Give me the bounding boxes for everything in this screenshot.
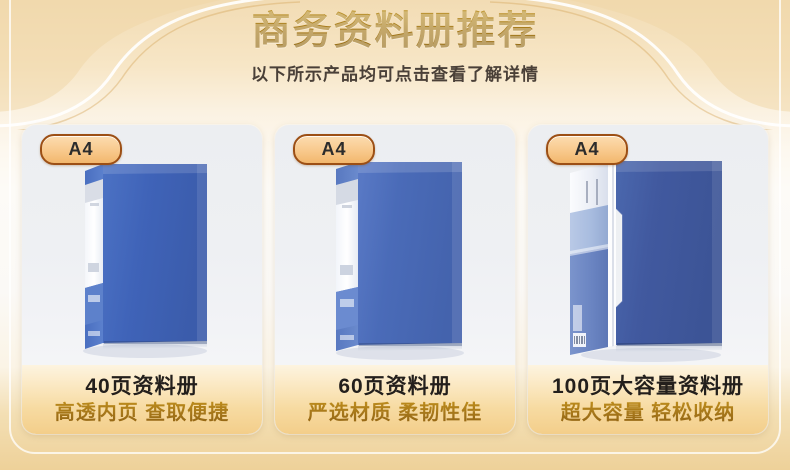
card-caption-60: 60页资料册 严选材质 柔韧性佳 [275, 365, 515, 434]
page-title: 商务资料册推荐 [0, 6, 790, 58]
card-caption-40: 40页资料册 高透内页 查取便捷 [22, 365, 262, 434]
card-title: 100页大容量资料册 [552, 373, 744, 400]
card-tagline: 超大容量 轻松收纳 [561, 400, 736, 427]
promo-banner: 商务资料册推荐 以下所示产品均可点击查看了解详情 A4 [0, 0, 790, 470]
badge-label: A4 [574, 139, 599, 160]
blue-folder-60-icon [275, 155, 515, 367]
blue-folder-100-large-icon [528, 155, 768, 367]
product-card-40[interactable]: A4 [22, 125, 262, 434]
product-card-60[interactable]: A4 [275, 125, 515, 434]
blue-folder-40-icon [22, 155, 262, 367]
card-title: 40页资料册 [85, 373, 198, 400]
card-title: 60页资料册 [338, 373, 451, 400]
banner-header: 商务资料册推荐 以下所示产品均可点击查看了解详情 [0, 6, 790, 86]
badge-label: A4 [68, 139, 93, 160]
product-card-100[interactable]: A4 [528, 125, 768, 434]
size-a4-badge: A4 [546, 134, 628, 165]
card-caption-100: 100页大容量资料册 超大容量 轻松收纳 [528, 365, 768, 434]
page-subtitle: 以下所示产品均可点击查看了解详情 [0, 64, 790, 86]
product-card-row: A4 [22, 125, 768, 434]
card-tagline: 严选材质 柔韧性佳 [308, 400, 483, 427]
card-tagline: 高透内页 查取便捷 [55, 400, 230, 427]
badge-label: A4 [321, 139, 346, 160]
size-a4-badge: A4 [40, 134, 122, 165]
size-a4-badge: A4 [293, 134, 375, 165]
